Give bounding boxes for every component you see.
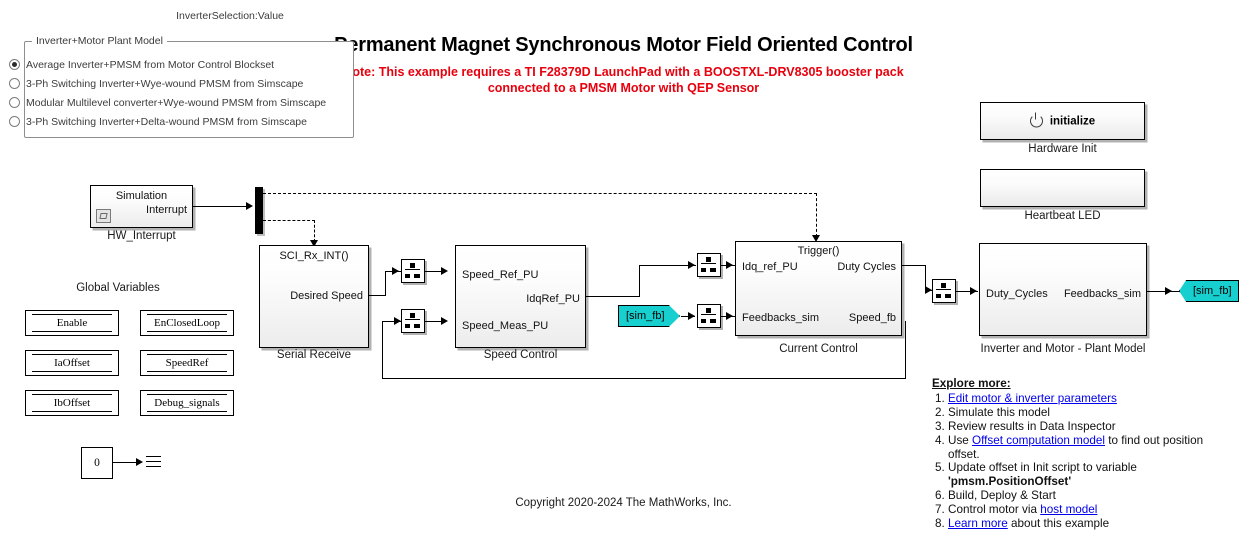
current-control-out-port-2: Speed_fb	[849, 312, 896, 324]
link-host-model[interactable]: host model	[1040, 503, 1097, 516]
list-item: Simulate this model	[948, 406, 1232, 420]
wire-duty-cycles	[902, 265, 926, 266]
global-variable-label: Enable	[57, 317, 88, 329]
radio-button-icon[interactable]	[9, 59, 20, 70]
wire-arrow	[970, 287, 977, 295]
trigger-line-serial-receive-v	[314, 220, 315, 242]
radio-option-average-inverter[interactable]: Average Inverter+PMSM from Motor Control…	[9, 56, 274, 73]
rate-transition-block-3[interactable]	[697, 253, 721, 277]
global-variables-title: Global Variables	[58, 282, 178, 294]
radio-option-label: 3-Ph Switching Inverter+Delta-wound PMSM…	[26, 116, 307, 128]
wire-interrupt	[193, 206, 248, 207]
wire-arrow	[688, 312, 695, 320]
explore-heading: Explore more:	[932, 377, 1232, 391]
radio-option-mmc-wye[interactable]: Modular Multilevel converter+Wye-wound P…	[9, 94, 326, 111]
radio-button-icon[interactable]	[9, 97, 20, 108]
radio-option-delta-switching[interactable]: 3-Ph Switching Inverter+Delta-wound PMSM…	[9, 113, 307, 130]
wire-plant-out	[1147, 291, 1180, 292]
initialize-content: initialize	[981, 115, 1144, 128]
global-variable-enable[interactable]: Enable	[25, 310, 119, 336]
current-control-header: Trigger()	[736, 245, 901, 257]
plant-model-in-port: Duty_Cycles	[986, 288, 1048, 300]
global-variable-debug-signals[interactable]: Debug_signals	[140, 390, 234, 416]
wire-arrow	[394, 317, 401, 325]
serial-receive-block[interactable]: SCI_Rx_INT() Desired Speed	[259, 245, 369, 348]
wire-arrow	[1165, 287, 1172, 295]
explore-item-post: about this example	[1008, 517, 1109, 530]
speed-control-label: Speed Control	[455, 349, 586, 361]
global-variable-enclosedloop[interactable]: EnClosedLoop	[140, 310, 234, 336]
wire-arrow	[246, 202, 253, 210]
rate-transition-block-1[interactable]	[401, 259, 425, 283]
explore-item-text: Build, Deploy & Start	[948, 489, 1056, 502]
hw-interrupt-header: Simulation	[91, 190, 192, 202]
inverter-selection-label: InverterSelection:Value	[0, 10, 460, 22]
constant-value: 0	[94, 457, 100, 469]
current-control-in-port-2: Feedbacks_sim	[742, 312, 819, 324]
radio-option-label: 3-Ph Switching Inverter+Wye-wound PMSM f…	[26, 78, 303, 90]
global-variable-speedref[interactable]: SpeedRef	[140, 350, 234, 376]
list-item: Edit motor & inverter parameters	[948, 392, 1232, 406]
radio-button-icon[interactable]	[9, 78, 20, 89]
explore-item-pre: Use	[948, 434, 972, 447]
constant-block[interactable]: 0	[81, 447, 113, 479]
explore-item-text: Simulate this model	[948, 406, 1050, 419]
wire-arrow	[726, 261, 733, 269]
subsystem-mask-icon	[96, 209, 111, 223]
speed-control-block[interactable]: Speed_Ref_PU Speed_Meas_PU IdqRef_PU	[455, 245, 586, 348]
wire-arrow	[925, 286, 932, 294]
hw-interrupt-out-port: Interrupt	[146, 204, 187, 216]
global-variable-label: IaOffset	[54, 357, 90, 369]
wire-arrow	[441, 267, 448, 275]
rate-transition-block-2[interactable]	[401, 309, 425, 333]
from-tag-label: [sim_fb]	[626, 310, 665, 322]
trigger-line-serial-receive	[263, 220, 315, 221]
current-control-out-port-1: Duty Cycles	[837, 261, 896, 273]
link-edit-motor-parameters[interactable]: Edit motor & inverter parameters	[948, 392, 1117, 405]
hw-interrupt-label: HW_Interrupt	[90, 230, 193, 242]
global-variable-iboffset[interactable]: IbOffset	[25, 390, 119, 416]
goto-tag-label: [sim_fb]	[1193, 285, 1232, 297]
trigger-line-current-control-v	[816, 193, 817, 237]
explore-item-text: Review results in Data Inspector	[948, 420, 1116, 433]
hardware-init-block[interactable]: initialize	[980, 102, 1145, 140]
radio-option-label: Modular Multilevel converter+Wye-wound P…	[26, 97, 326, 109]
wire-feedback-v-left	[382, 321, 383, 378]
goto-tag-sim-fb[interactable]: [sim_fb]	[1179, 280, 1239, 302]
global-variable-label: SpeedRef	[166, 357, 209, 369]
wire-arrow	[136, 458, 143, 466]
wire-arrow	[688, 261, 695, 269]
list-item: Build, Deploy & Start	[948, 489, 1232, 503]
hw-interrupt-block[interactable]: Simulation Interrupt	[90, 185, 193, 228]
explore-item-bold: 'pmsm.PositionOffset'	[948, 475, 1071, 488]
link-learn-more[interactable]: Learn more	[948, 517, 1008, 530]
from-tag-sim-fb[interactable]: [sim_fb]	[618, 305, 680, 327]
global-variable-label: Debug_signals	[154, 397, 219, 409]
radio-option-label: Average Inverter+PMSM from Motor Control…	[26, 59, 274, 71]
hardware-init-label: Hardware Init	[980, 143, 1145, 155]
wire-arrow	[392, 267, 399, 275]
global-variable-label: EnClosedLoop	[154, 317, 220, 329]
note-line-2: connected to a PMSM Motor with QEP Senso…	[488, 81, 759, 95]
heartbeat-led-block[interactable]	[980, 169, 1145, 207]
speed-control-out-port: IdqRef_PU	[526, 293, 580, 305]
explore-list: Edit motor & inverter parameters Simulat…	[932, 392, 1232, 531]
list-item: Update offset in Init script to variable…	[948, 461, 1232, 489]
wire-desired-speed	[369, 295, 386, 296]
global-variable-iaoffset[interactable]: IaOffset	[25, 350, 119, 376]
power-icon	[1030, 115, 1043, 128]
list-item: Control motor via host model	[948, 503, 1232, 517]
global-variable-label: IbOffset	[54, 397, 90, 409]
speed-control-in-port-1: Speed_Ref_PU	[462, 269, 538, 281]
plant-model-label: Inverter and Motor - Plant Model	[961, 343, 1165, 355]
serial-receive-out-port: Desired Speed	[290, 290, 363, 302]
interrupt-mux-bar	[255, 187, 263, 234]
serial-receive-label: Serial Receive	[259, 349, 369, 361]
plant-panel-title: Inverter+Motor Plant Model	[32, 35, 167, 47]
radio-option-wye-switching[interactable]: 3-Ph Switching Inverter+Wye-wound PMSM f…	[9, 75, 303, 92]
inverter-motor-plant-model-block[interactable]: Duty_Cycles Feedbacks_sim	[979, 243, 1147, 336]
speed-control-in-port-2: Speed_Meas_PU	[462, 320, 548, 332]
list-item: Learn more about this example	[948, 517, 1232, 531]
rate-transition-block-5[interactable]	[932, 279, 956, 303]
explore-more-section: Explore more: Edit motor & inverter para…	[932, 377, 1232, 531]
plant-model-out-port: Feedbacks_sim	[1064, 288, 1141, 300]
note-line-1: Note: This example requires a TI F28379D…	[343, 65, 903, 79]
serial-receive-header: SCI_Rx_INT()	[260, 250, 368, 262]
current-control-label: Current Control	[735, 343, 902, 355]
link-offset-computation-model[interactable]: Offset computation model	[972, 434, 1105, 447]
wire-idqref-out	[586, 296, 640, 297]
explore-item-pre: Update offset in Init script to variable	[948, 461, 1137, 474]
explore-item-pre: Control motor via	[948, 503, 1040, 516]
current-control-in-port-1: Idq_ref_PU	[742, 261, 798, 273]
wire-desired-speed-v	[385, 271, 386, 296]
wire-feedback-v-right	[905, 321, 906, 379]
initialize-label: initialize	[1050, 115, 1095, 127]
wire-arrow	[441, 317, 448, 325]
radio-button-icon[interactable]	[9, 116, 20, 127]
wire-idqref-v	[639, 265, 640, 297]
list-item: Review results in Data Inspector	[948, 420, 1232, 434]
current-control-block[interactable]: Trigger() Idq_ref_PU Feedbacks_sim Duty …	[735, 241, 902, 336]
trigger-line-current-control	[263, 193, 817, 194]
rate-transition-block-4[interactable]	[697, 304, 721, 328]
terminator-block[interactable]	[146, 456, 161, 469]
wire-arrow	[726, 312, 733, 320]
heartbeat-led-label: Heartbeat LED	[980, 210, 1145, 222]
wire-feedback-bottom	[382, 378, 906, 379]
list-item: Use Offset computation model to find out…	[948, 434, 1232, 462]
